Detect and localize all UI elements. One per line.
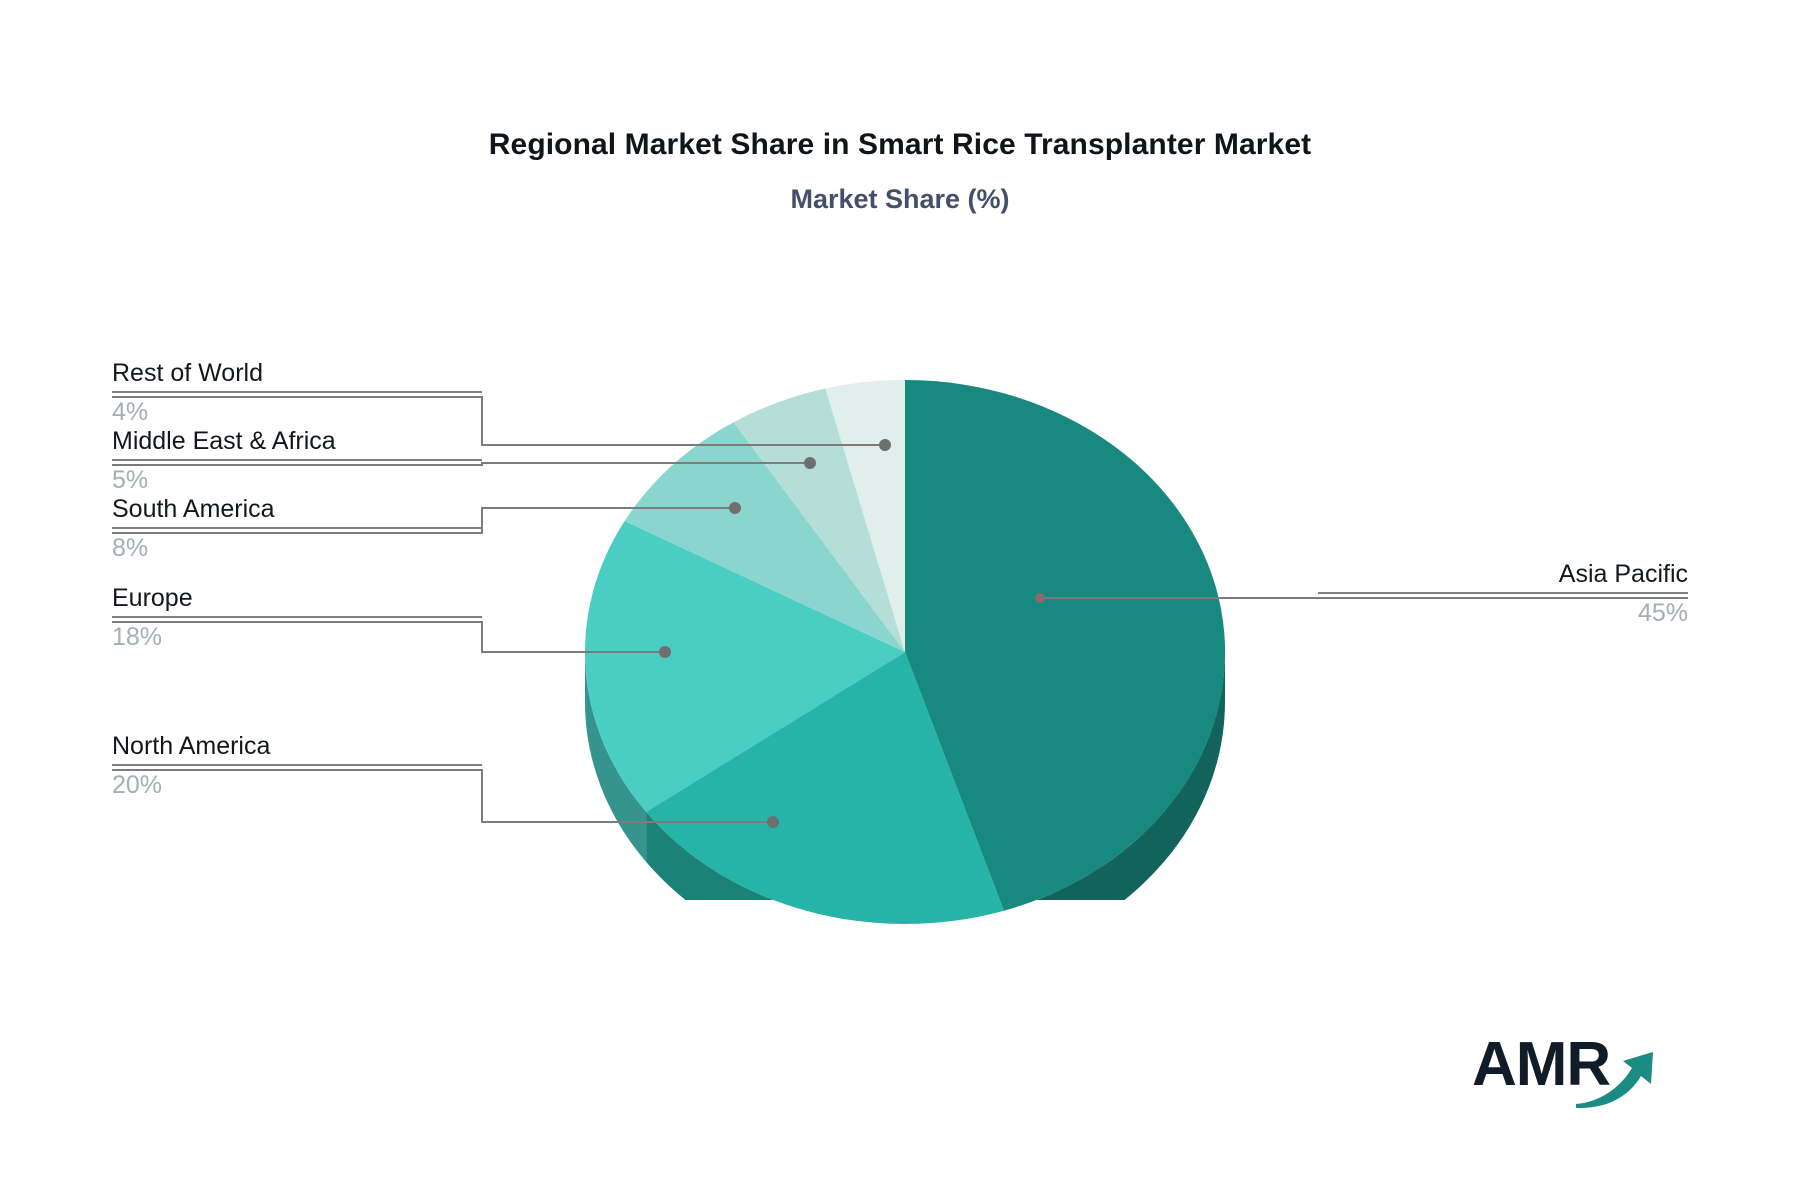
label-middle-east-africa-value: 5% <box>112 465 482 495</box>
label-middle-east-africa[interactable]: Middle East & Africa 5% <box>112 426 482 495</box>
leader-dot-north-america <box>767 816 779 828</box>
label-south-america-name: South America <box>112 494 482 524</box>
label-asia-pacific[interactable]: Asia Pacific 45% <box>1318 559 1688 628</box>
label-rest-of-world-name: Rest of World <box>112 358 482 388</box>
label-middle-east-africa-rule <box>112 459 482 461</box>
upward-arrow-icon <box>1472 1028 1662 1114</box>
label-europe-name: Europe <box>112 583 482 613</box>
leader-dot-south-america <box>729 502 741 514</box>
leader-dot-middle-east-africa <box>804 457 816 469</box>
label-europe-value: 18% <box>112 622 482 652</box>
label-europe-rule <box>112 616 482 618</box>
label-rest-of-world-rule <box>112 391 482 393</box>
label-south-america-value: 8% <box>112 533 482 563</box>
label-south-america[interactable]: South America 8% <box>112 494 482 563</box>
leader-dot-asia-pacific <box>1035 593 1045 603</box>
leader-dot-rest-of-world <box>879 439 891 451</box>
label-asia-pacific-name: Asia Pacific <box>1318 559 1688 589</box>
label-north-america-value: 20% <box>112 770 482 800</box>
pie-slices <box>585 380 1225 924</box>
leader-dot-europe <box>659 646 671 658</box>
label-north-america-name: North America <box>112 731 482 761</box>
amr-logo: AMR <box>1472 1028 1662 1114</box>
chart-canvas: Regional Market Share in Smart Rice Tran… <box>0 0 1800 1196</box>
label-asia-pacific-value: 45% <box>1318 598 1688 628</box>
label-north-america[interactable]: North America 20% <box>112 731 482 800</box>
label-rest-of-world-value: 4% <box>112 397 482 427</box>
label-middle-east-africa-name: Middle East & Africa <box>112 426 482 456</box>
label-europe[interactable]: Europe 18% <box>112 583 482 652</box>
label-north-america-rule <box>112 764 482 766</box>
label-rest-of-world[interactable]: Rest of World 4% <box>112 358 482 427</box>
label-asia-pacific-rule <box>1318 592 1688 594</box>
label-south-america-rule <box>112 527 482 529</box>
